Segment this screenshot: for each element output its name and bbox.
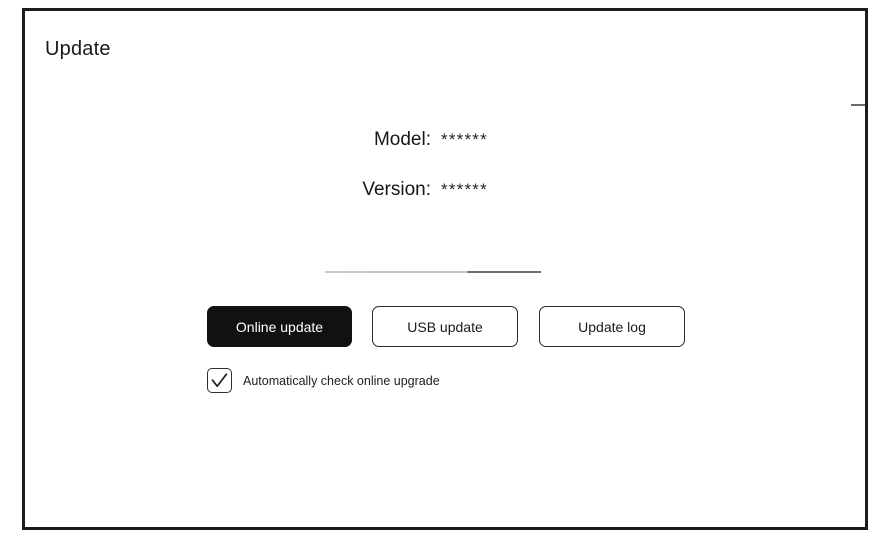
update-action-buttons: Online update USB update Update log — [207, 306, 685, 347]
usb-update-button[interactable]: USB update — [372, 306, 518, 347]
model-value: ****** — [441, 128, 488, 152]
right-edge-tick-mark — [851, 104, 865, 106]
auto-check-label: Automatically check online upgrade — [243, 373, 440, 389]
auto-check-checkbox[interactable] — [207, 368, 232, 393]
online-update-button[interactable]: Online update — [207, 306, 352, 347]
device-info-block: Model: ****** Version: ****** — [25, 123, 871, 207]
version-value: ****** — [441, 178, 488, 202]
version-label: Version: — [25, 178, 431, 202]
update-log-button[interactable]: Update log — [539, 306, 685, 347]
checkmark-icon — [211, 373, 228, 388]
page-title: Update — [45, 37, 111, 61]
info-divider — [325, 271, 541, 273]
info-row-model: Model: ****** — [25, 123, 871, 157]
model-label: Model: — [25, 128, 431, 152]
info-row-version: Version: ****** — [25, 173, 871, 207]
auto-check-online-upgrade-row[interactable]: Automatically check online upgrade — [207, 368, 440, 393]
settings-screen-frame: Update Model: ****** Version: ****** Onl… — [22, 8, 868, 530]
